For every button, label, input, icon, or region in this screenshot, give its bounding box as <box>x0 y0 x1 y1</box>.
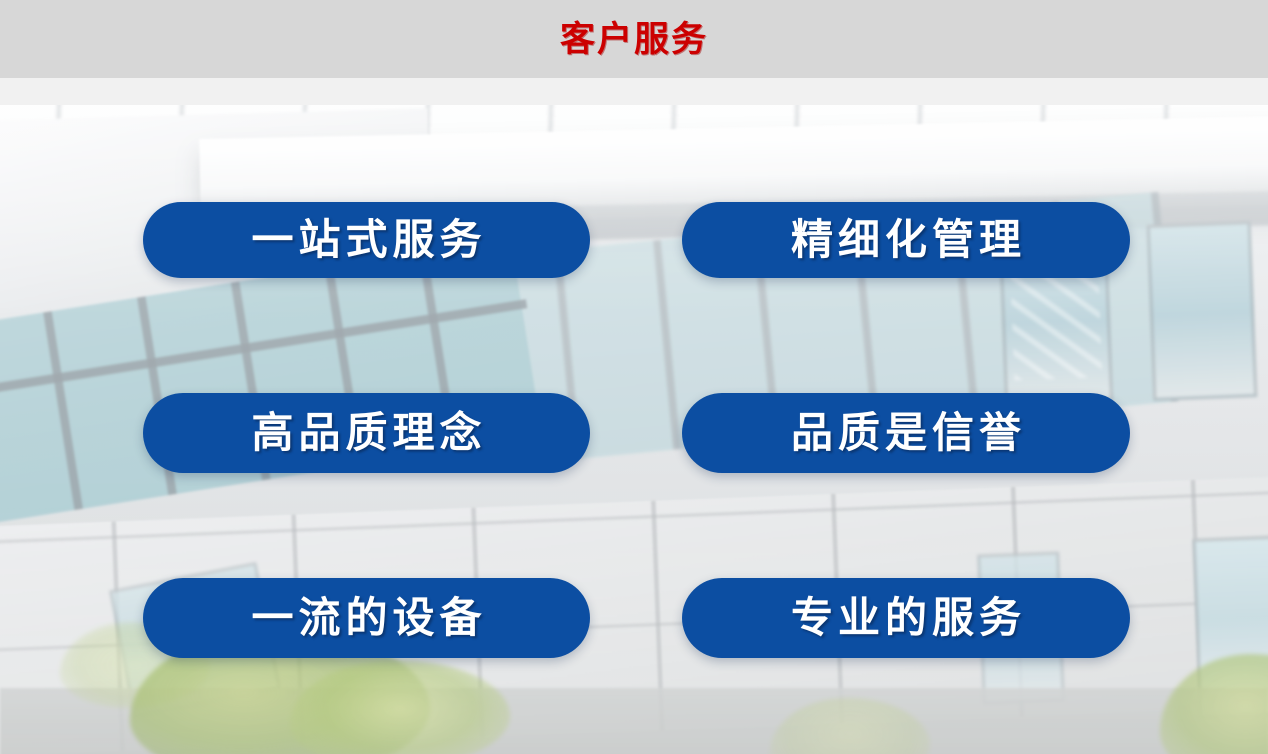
feature-pill-refined-management[interactable]: 精细化管理 <box>682 202 1130 278</box>
feature-pill-quality-is-reputation[interactable]: 品质是信誉 <box>682 393 1130 473</box>
feature-pill-label: 高品质理念 <box>246 412 486 454</box>
feature-pill-high-quality-concept[interactable]: 高品质理念 <box>143 393 590 473</box>
header-separator-strip <box>0 78 1268 105</box>
feature-pill-label: 一流的设备 <box>246 597 486 639</box>
feature-pill-one-stop-service[interactable]: 一站式服务 <box>143 202 590 278</box>
page-title: 客户服务 <box>560 22 708 57</box>
feature-pill-label: 一站式服务 <box>246 219 486 261</box>
header-bar: 客户服务 <box>0 0 1268 78</box>
feature-pill-label: 专业的服务 <box>786 597 1026 639</box>
customer-service-banner-page: 客户服务 <box>0 0 1268 754</box>
feature-pill-label: 精细化管理 <box>786 219 1026 261</box>
feature-pill-label: 品质是信誉 <box>786 412 1026 454</box>
feature-pill-grid: 一站式服务 精细化管理 高品质理念 品质是信誉 一流的设备 专业的服务 <box>0 105 1268 754</box>
hero-banner: 一站式服务 精细化管理 高品质理念 品质是信誉 一流的设备 专业的服务 <box>0 105 1268 754</box>
feature-pill-first-class-equipment[interactable]: 一流的设备 <box>143 578 590 658</box>
feature-pill-professional-service[interactable]: 专业的服务 <box>682 578 1130 658</box>
